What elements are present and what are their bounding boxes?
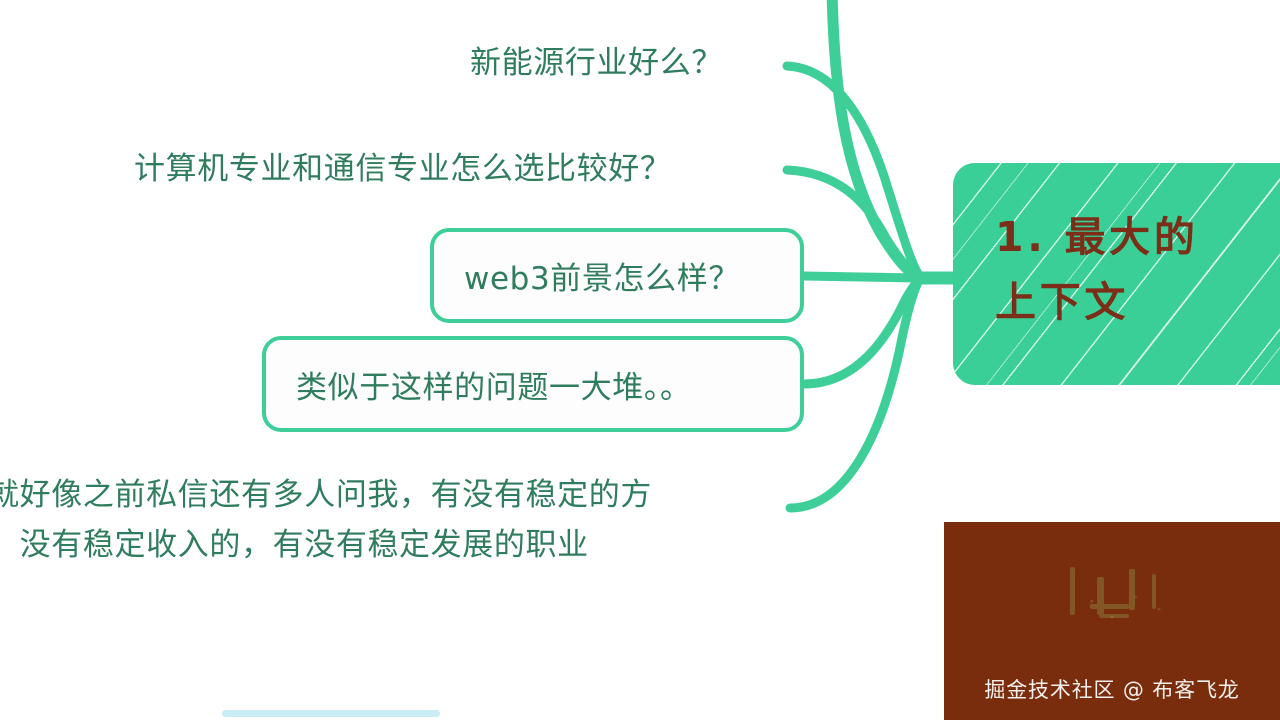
- horizontal-scrollbar[interactable]: [222, 710, 440, 717]
- branch-label-new-energy[interactable]: 新能源行业好么？: [470, 41, 723, 85]
- connector-trunk-top: [832, 0, 921, 278]
- connector-major-choice: [787, 170, 921, 278]
- video-subject-silhouette: [1058, 566, 1172, 649]
- branch-label-major-choice[interactable]: 计算机专业和通信专业怎么选比较好？: [134, 147, 672, 191]
- connector-new-energy: [787, 66, 921, 278]
- topic-node-context[interactable]: 1. 最大的 上下文: [953, 163, 1280, 385]
- connector-similar: [804, 278, 921, 384]
- video-overlay-panel[interactable]: 掘金技术社区 @ 布客飞龙: [944, 522, 1280, 720]
- mindmap-canvas: 新能源行业好么？ 计算机专业和通信专业怎么选比较好？ web3前景怎么样？ 类似…: [0, 0, 1280, 720]
- branch-label-web3: web3前景怎么样？: [464, 253, 740, 298]
- branch-box-similar-questions[interactable]: 类似于这样的问题一大堆。。: [262, 336, 804, 432]
- branch-box-web3[interactable]: web3前景怎么样？: [430, 228, 804, 323]
- branch-label-similar-questions: 类似于这样的问题一大堆。。: [296, 362, 692, 407]
- connector-web3: [804, 276, 921, 278]
- topic-node-label: 1. 最大的 上下文: [995, 205, 1280, 335]
- branch-label-stable-career[interactable]: 就好像之前私信还有多人问我，有没有稳定的方 ，没有稳定收入的，有没有稳定发展的职…: [0, 470, 652, 570]
- connector-stable-career: [790, 278, 921, 508]
- video-watermark-text: 掘金技术社区 @ 布客飞龙: [944, 674, 1280, 704]
